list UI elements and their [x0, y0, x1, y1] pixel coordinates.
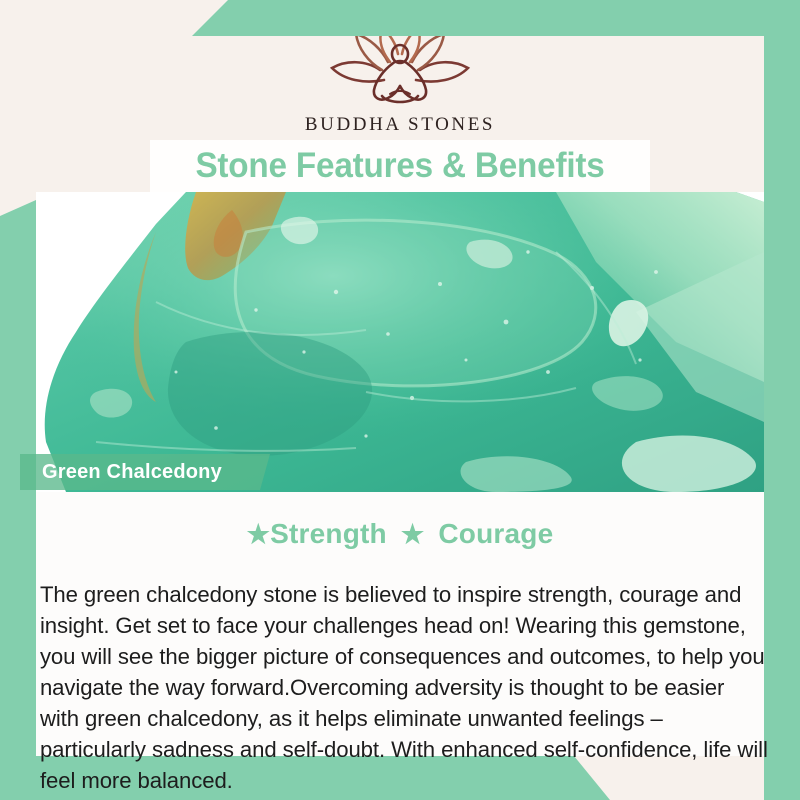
poster-canvas: BUDDHA STONES Stone Features & Benefits	[0, 0, 800, 800]
stone-name-text: Green Chalcedony	[20, 454, 270, 484]
star-icon-2: ★	[401, 519, 425, 549]
keyword-strength: Strength	[270, 518, 387, 549]
frame-accent-left	[0, 200, 36, 800]
brand-wordmark: BUDDHA STONES	[0, 114, 800, 136]
stone-name-label: Green Chalcedony	[20, 454, 270, 490]
keyword-line: ★Strength★Courage	[36, 518, 764, 550]
stone-photo-graphic	[36, 192, 764, 492]
stone-photo	[36, 192, 764, 492]
page-title: Stone Features & Benefits	[163, 140, 638, 192]
star-icon: ★	[247, 519, 271, 549]
keyword-courage: Courage	[438, 518, 553, 549]
description-paragraph: The green chalcedony stone is believed t…	[36, 579, 773, 796]
